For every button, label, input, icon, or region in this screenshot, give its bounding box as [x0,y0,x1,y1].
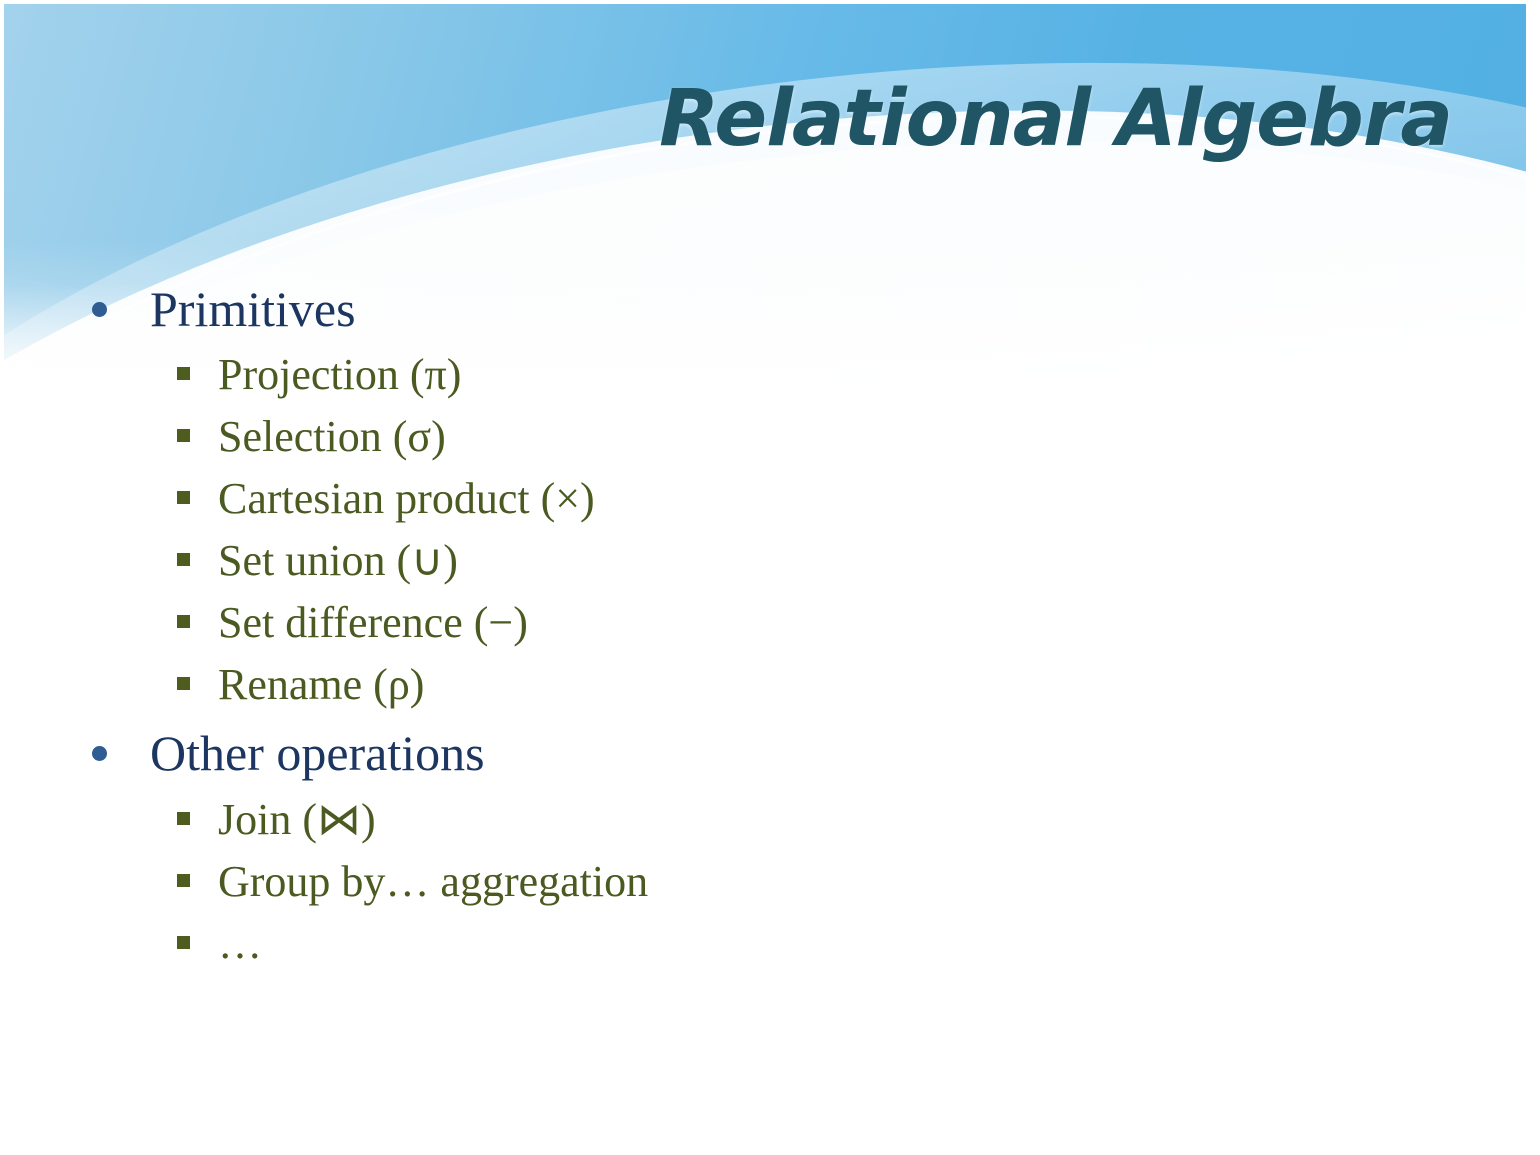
bullet-level1-label: Primitives [150,280,356,338]
list-item-label: Group by… aggregation [218,855,648,909]
blue-dot-bullet-icon [92,746,107,761]
list-item-label: Cartesian product (×) [218,472,595,526]
list-item-label: Rename (ρ) [218,658,424,712]
green-square-bullet-icon [177,615,190,628]
green-square-bullet-icon [177,812,190,825]
blue-dot-bullet-icon [92,302,107,317]
bullet-level1-label: Other operations [150,724,485,782]
green-square-bullet-icon [177,677,190,690]
green-square-bullet-icon [177,874,190,887]
list-item-label: Join (⋈) [218,793,376,847]
green-square-bullet-icon [177,429,190,442]
green-square-bullet-icon [177,367,190,380]
list-item-label: Set difference (−) [218,596,528,650]
list-item-label: Projection (π) [218,348,461,402]
green-square-bullet-icon [177,553,190,566]
list-item-label: … [218,917,262,971]
list-item-label: Selection (σ) [218,410,446,464]
presentation-slide: Relational Algebra Primitives Projection… [0,0,1540,1155]
green-square-bullet-icon [177,936,190,949]
green-square-bullet-icon [177,491,190,504]
slide-title: Relational Algebra [0,74,1452,164]
list-item-label: Set union (∪) [218,534,458,588]
